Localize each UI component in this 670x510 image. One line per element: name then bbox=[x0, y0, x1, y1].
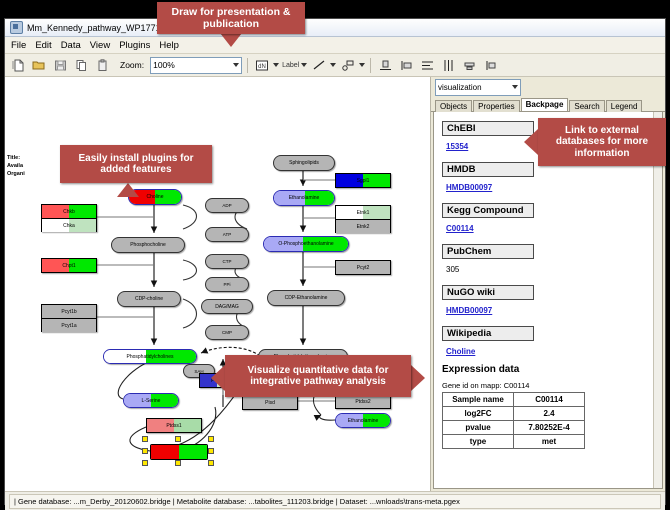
table-row: Sample name C00114 bbox=[443, 393, 585, 407]
gene-group-row-label: Chka bbox=[63, 223, 75, 229]
svg-text:dN: dN bbox=[258, 64, 266, 70]
stack-icon[interactable] bbox=[460, 56, 478, 74]
menu-item-data[interactable]: Data bbox=[61, 40, 81, 51]
metabolite-node[interactable]: Ethanolamine bbox=[335, 413, 391, 428]
table-row: pvalue 7.80252E-4 bbox=[443, 421, 585, 435]
gene-group-row[interactable]: Etnk2 bbox=[336, 220, 390, 233]
align-bottom-icon[interactable] bbox=[376, 56, 394, 74]
node-fill-right bbox=[179, 445, 207, 459]
pathvisio-window: Mm_Kennedy_pathway_WP1771_45176.gpml Fil… bbox=[4, 18, 666, 505]
menu-item-help[interactable]: Help bbox=[159, 40, 179, 51]
expr-value: 2.4 bbox=[514, 407, 585, 421]
gene-node-label: Chpt1 bbox=[62, 263, 75, 269]
chevron-down-icon[interactable] bbox=[273, 63, 279, 67]
tab-properties[interactable]: Properties bbox=[473, 100, 519, 112]
metabolite-node-label: CMP bbox=[222, 330, 232, 335]
backpage-scrollbar[interactable] bbox=[653, 112, 662, 488]
db-link-hmdb[interactable]: HMDB00097 bbox=[446, 183, 492, 192]
db-link-kegg[interactable]: C00114 bbox=[446, 224, 474, 233]
tab-objects[interactable]: Objects bbox=[435, 100, 472, 112]
metabolite-node-label: Choline bbox=[147, 194, 164, 200]
gene-node[interactable]: Sgpl1 bbox=[335, 173, 391, 188]
metabolite-node[interactable]: ATP bbox=[205, 227, 249, 242]
selection-handle[interactable] bbox=[142, 448, 148, 454]
metabolite-node-label: L-Serine bbox=[142, 398, 161, 404]
metabolite-node[interactable]: CDP-choline bbox=[117, 291, 181, 307]
metabolite-node[interactable]: Phosphatidylcholines bbox=[103, 349, 197, 364]
open-folder-icon[interactable] bbox=[30, 56, 48, 74]
datanode-tool[interactable]: dN bbox=[253, 56, 279, 74]
tab-search[interactable]: Search bbox=[569, 100, 604, 112]
node-fill-left bbox=[151, 445, 179, 459]
db-link-chebi[interactable]: 15354 bbox=[446, 142, 468, 151]
db-section-kegg: Kegg Compound C00114 bbox=[442, 200, 662, 236]
expr-key: type bbox=[443, 435, 514, 449]
callout-visualize-arrow-left-icon bbox=[211, 365, 225, 391]
gene-group[interactable]: ChkbChka bbox=[41, 204, 97, 232]
metabolite-node[interactable]: CTP bbox=[205, 254, 249, 269]
metabolite-node-label: CDP-Ethanolamine bbox=[285, 295, 328, 301]
gene-group-row[interactable]: Pcyt1a bbox=[42, 319, 96, 332]
table-row: log2FC 2.4 bbox=[443, 407, 585, 421]
zoom-combobox[interactable]: 100% bbox=[150, 57, 242, 74]
selection-handle[interactable] bbox=[208, 436, 214, 442]
status-bar: | Gene database: ...m_Derby_20120602.bri… bbox=[5, 491, 665, 510]
visualization-select-value: visualization bbox=[438, 83, 482, 92]
visualization-select[interactable]: visualization bbox=[435, 79, 521, 96]
chevron-down-icon[interactable] bbox=[233, 63, 239, 67]
pathvisio-icon bbox=[10, 21, 23, 34]
callout-plugins: Easily install plugins for added feature… bbox=[60, 145, 212, 183]
paste-clipboard-icon[interactable] bbox=[93, 56, 111, 74]
gene-group-row-label: Chkb bbox=[63, 209, 75, 215]
title-bar: Mm_Kennedy_pathway_WP1771_45176.gpml bbox=[5, 19, 665, 37]
db-value-pubchem: 305 bbox=[446, 265, 459, 274]
db-section-nugo: NuGO wiki HMDB00097 bbox=[442, 282, 662, 318]
db-section-pubchem: PubChem 305 bbox=[442, 241, 662, 277]
expression-data-heading: Expression data bbox=[442, 364, 662, 375]
toolbar-separator bbox=[370, 58, 371, 73]
expr-key: log2FC bbox=[443, 407, 514, 421]
selection-handle[interactable] bbox=[208, 460, 214, 466]
db-name-hmdb: HMDB bbox=[442, 162, 534, 177]
distribute-horizontal-icon[interactable] bbox=[439, 56, 457, 74]
toolbar-separator bbox=[247, 58, 248, 73]
expr-value: C00114 bbox=[514, 393, 585, 407]
pathway-canvas[interactable]: Title: Availa Organi bbox=[5, 77, 431, 491]
gene-group[interactable]: Pcyt1bPcyt1a bbox=[41, 304, 97, 332]
gene-group-row-label: Pcyt1a bbox=[61, 323, 76, 329]
tab-legend[interactable]: Legend bbox=[606, 100, 643, 112]
chevron-down-icon[interactable] bbox=[359, 63, 365, 67]
selection-handle[interactable] bbox=[175, 436, 181, 442]
metabolite-node[interactable]: DAG/MAG bbox=[201, 299, 253, 314]
db-name-nugo: NuGO wiki bbox=[442, 285, 534, 300]
zoom-label: Zoom: bbox=[120, 60, 144, 70]
metabolite-node[interactable]: CDP-Ethanolamine bbox=[267, 290, 345, 306]
table-row: type met bbox=[443, 435, 585, 449]
side-panel-tabs: Objects Properties Backpage Search Legen… bbox=[431, 97, 665, 112]
label-tool-label: Label bbox=[282, 62, 299, 69]
visualization-row: visualization bbox=[431, 77, 665, 97]
copy-icon[interactable] bbox=[72, 56, 90, 74]
metabolite-node[interactable]: ADP bbox=[205, 198, 249, 213]
callout-plugins-arrow-icon bbox=[117, 183, 139, 197]
gene-id-line: Gene id on mapp: C00114 bbox=[442, 381, 662, 390]
menu-item-file[interactable]: File bbox=[11, 40, 26, 51]
gene-node[interactable]: Pcyt2 bbox=[335, 260, 391, 275]
metabolite-node[interactable]: O-Phosphoethanolamine bbox=[263, 236, 349, 252]
metabolite-node-label: Sphingolipids bbox=[289, 160, 319, 166]
metabolite-node-label: DAG/MAG bbox=[215, 304, 239, 310]
menu-item-edit[interactable]: Edit bbox=[35, 40, 51, 51]
label-tool[interactable]: Label bbox=[282, 62, 307, 69]
metabolite-node[interactable]: L-Serine bbox=[123, 393, 179, 408]
expr-key: pvalue bbox=[443, 421, 514, 435]
expression-table: Sample name C00114 log2FC 2.4 pvalue 7.8… bbox=[442, 392, 585, 449]
db-link-nugo[interactable]: HMDB00097 bbox=[446, 306, 492, 315]
gene-group-row-label: Pcyt1b bbox=[61, 309, 76, 315]
expr-key: Sample name bbox=[443, 393, 514, 407]
toolbar: Zoom: 100% dN Label bbox=[5, 54, 665, 77]
menu-item-view[interactable]: View bbox=[90, 40, 110, 51]
db-name-wikipedia: Wikipedia bbox=[442, 326, 534, 341]
expr-value: met bbox=[514, 435, 585, 449]
metabolite-node[interactable]: Sphingolipids bbox=[273, 155, 335, 171]
gene-group-row[interactable]: Etnk1 bbox=[336, 206, 390, 220]
db-name-pubchem: PubChem bbox=[442, 244, 534, 259]
db-link-wikipedia[interactable]: Choline bbox=[446, 347, 475, 356]
gene-group[interactable]: Etnk1Etnk2 bbox=[335, 205, 391, 233]
metabolite-node-label: Phosphatidylcholines bbox=[127, 354, 174, 360]
selection-handle[interactable] bbox=[142, 436, 148, 442]
metabolite-node-label: PPi bbox=[223, 282, 230, 287]
group-icon[interactable] bbox=[481, 56, 499, 74]
line-tool[interactable] bbox=[310, 56, 336, 74]
callout-links: Link to external databases for more info… bbox=[538, 118, 666, 166]
callout-links-arrow-icon bbox=[524, 129, 538, 155]
line-icon[interactable] bbox=[310, 56, 328, 74]
metabolite-node[interactable]: CMP bbox=[205, 325, 249, 340]
metabolite-node[interactable]: Phosphocholine bbox=[111, 237, 185, 253]
callout-draw: Draw for presentation & publication bbox=[157, 2, 305, 34]
chevron-down-icon[interactable] bbox=[512, 85, 518, 89]
menu-bar: File Edit Data View Plugins Help bbox=[5, 37, 665, 54]
gene-group-row-label: Etnk2 bbox=[357, 224, 370, 230]
gene-node-label: Pisd bbox=[265, 400, 275, 406]
shape-icon[interactable] bbox=[339, 56, 357, 74]
selection-handle[interactable] bbox=[208, 448, 214, 454]
selected-datanode-choline[interactable]: Choline bbox=[145, 439, 211, 463]
gene-node[interactable]: Pisd bbox=[242, 395, 298, 410]
gene-node-label: Ptdss2 bbox=[355, 399, 370, 405]
gene-group-row[interactable]: Chkb bbox=[42, 205, 96, 219]
metabolite-node-label: Phosphocholine bbox=[130, 242, 166, 248]
align-left-icon[interactable] bbox=[397, 56, 415, 74]
zoom-value: 100% bbox=[153, 60, 175, 70]
callout-visualize-arrow-right-icon bbox=[411, 365, 425, 391]
db-name-kegg: Kegg Compound bbox=[442, 203, 534, 218]
metabolite-node-label: ATP bbox=[223, 232, 231, 237]
metabolite-node-label: O-Phosphoethanolamine bbox=[278, 241, 333, 247]
db-section-wikipedia: Wikipedia Choline bbox=[442, 323, 662, 359]
metabolite-node[interactable]: Ethanolamine bbox=[273, 190, 335, 206]
chevron-down-icon[interactable] bbox=[301, 63, 307, 67]
backpage-content: ChEBI 15354 HMDB HMDB00097 Kegg Compound… bbox=[433, 112, 663, 489]
expr-value: 7.80252E-4 bbox=[514, 421, 585, 435]
status-text: | Gene database: ...m_Derby_20120602.bri… bbox=[14, 497, 460, 506]
save-disk-icon[interactable] bbox=[51, 56, 69, 74]
metabolite-node-label: ADP bbox=[222, 203, 231, 208]
metabolite-node-label: CTP bbox=[223, 259, 232, 264]
distribute-vertical-icon[interactable] bbox=[418, 56, 436, 74]
metabolite-node[interactable]: PPi bbox=[205, 277, 249, 292]
metabolite-node-label: Ethanolamine bbox=[289, 195, 320, 201]
gene-node[interactable]: Ptdss1 bbox=[146, 418, 202, 433]
gene-group-row[interactable]: Chka bbox=[42, 219, 96, 232]
metabolite-node-label: Ethanolamine bbox=[348, 418, 379, 424]
chevron-down-icon[interactable] bbox=[330, 63, 336, 67]
tab-backpage[interactable]: Backpage bbox=[521, 98, 569, 111]
gene-node[interactable]: Chpt1 bbox=[41, 258, 97, 273]
gene-node-label: Ptdss1 bbox=[166, 423, 181, 429]
shape-tool[interactable] bbox=[339, 56, 365, 74]
db-name-chebi: ChEBI bbox=[442, 121, 534, 136]
new-document-icon[interactable] bbox=[9, 56, 27, 74]
metabolite-node-label: CDP-choline bbox=[135, 296, 163, 302]
gene-group-row[interactable]: Pcyt1b bbox=[42, 305, 96, 319]
selected-node-body[interactable]: Choline bbox=[150, 444, 208, 460]
selection-handle[interactable] bbox=[142, 460, 148, 466]
callout-visualize: Visualize quantitative data for integrat… bbox=[225, 355, 411, 397]
gene-group-row-label: Etnk1 bbox=[357, 210, 370, 216]
selection-handle[interactable] bbox=[175, 460, 181, 466]
callout-draw-arrow-icon bbox=[220, 33, 242, 47]
gene-node-label: Sgpl1 bbox=[357, 178, 370, 184]
datanode-icon[interactable]: dN bbox=[253, 56, 271, 74]
menu-item-plugins[interactable]: Plugins bbox=[119, 40, 150, 51]
gene-node-label: Pcyt2 bbox=[357, 265, 370, 271]
